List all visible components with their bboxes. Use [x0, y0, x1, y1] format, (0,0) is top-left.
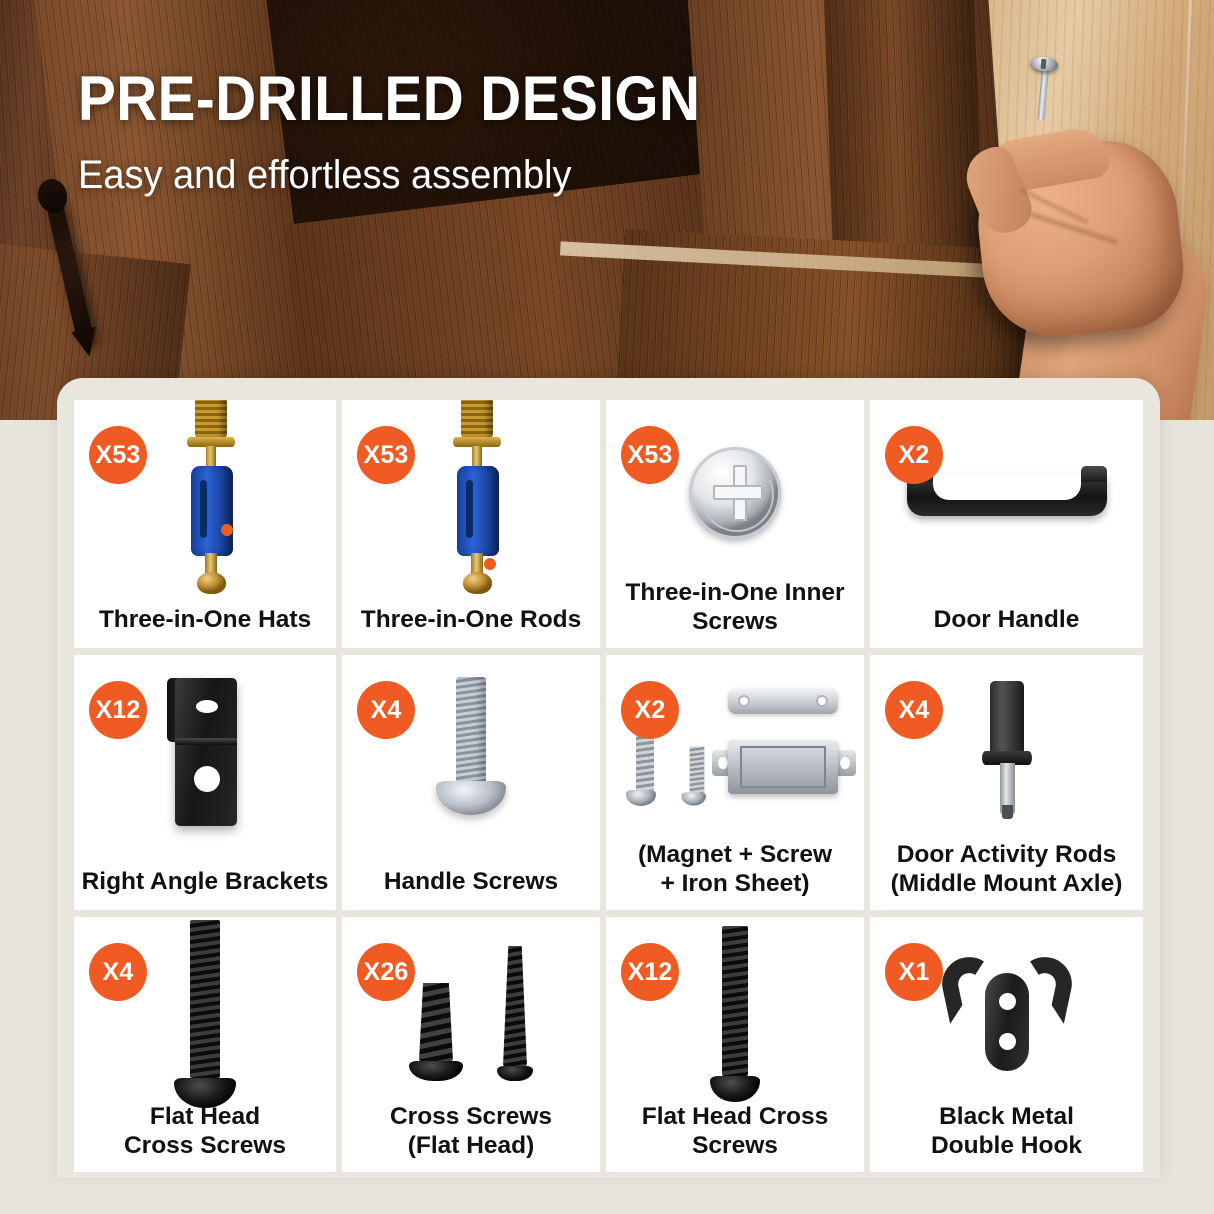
part-cell-right-angle-brackets[interactable]: X12 Right Angle Brackets	[74, 655, 336, 910]
quantity-badge: X2	[885, 426, 943, 484]
part-cell-cross-screws-flat-head[interactable]: X26 Cross Screws (Flat Head)	[342, 917, 600, 1172]
headline-block: PRE-DRILLED DESIGN Easy and effortless a…	[78, 68, 770, 195]
part-label: Three-in-One Inner Screws	[606, 579, 864, 648]
quantity-badge: X2	[621, 681, 679, 739]
parts-list-card: X53 Three-in-One Hats X53	[57, 378, 1160, 1178]
part-cell-door-activity-rods[interactable]: X4 Door Activity Rods (Middle Mount Axle…	[870, 655, 1143, 910]
part-label: Right Angle Brackets	[74, 868, 336, 910]
quantity-badge: X26	[357, 943, 415, 1001]
quantity-badge: X4	[89, 943, 147, 1001]
part-label: Three-in-One Rods	[342, 606, 600, 648]
quantity-badge: X12	[621, 943, 679, 1001]
part-label: Door Handle	[870, 606, 1143, 648]
hand	[950, 86, 1200, 420]
part-cell-door-handle[interactable]: X2 Door Handle	[870, 400, 1143, 648]
part-cell-three-in-one-inner-screws[interactable]: X53 Three-in-One Inner Screws	[606, 400, 864, 648]
quantity-badge: X53	[89, 426, 147, 484]
product-infographic: PRE-DRILLED DESIGN Easy and effortless a…	[0, 0, 1214, 1214]
part-label: Cross Screws (Flat Head)	[342, 1103, 600, 1172]
part-label: Handle Screws	[342, 868, 600, 910]
part-cell-three-in-one-rods[interactable]: X53 Three-in-One Rods	[342, 400, 600, 648]
part-label: (Magnet + Screw + Iron Sheet)	[606, 841, 864, 910]
hero-photo	[0, 0, 1214, 420]
part-cell-handle-screws[interactable]: X4 Handle Screws	[342, 655, 600, 910]
quantity-badge: X4	[885, 681, 943, 739]
part-label: Black Metal Double Hook	[870, 1103, 1143, 1172]
quantity-badge: X12	[89, 681, 147, 739]
quantity-badge: X4	[357, 681, 415, 739]
quantity-badge: X53	[621, 426, 679, 484]
part-cell-flat-head-cross-screws-4[interactable]: X4 Flat Head Cross Screws	[74, 917, 336, 1172]
part-cell-magnet-screw-iron-sheet[interactable]: X2 (Magnet + Screw + Iron Sheet)	[606, 655, 864, 910]
parts-grid: X53 Three-in-One Hats X53	[74, 400, 1143, 1172]
page-title: PRE-DRILLED DESIGN	[78, 68, 700, 131]
part-label: Three-in-One Hats	[74, 606, 336, 648]
page-subtitle: Easy and effortless assembly	[78, 155, 735, 195]
part-cell-black-metal-double-hook[interactable]: X1 Black Metal Double Hook	[870, 917, 1143, 1172]
part-label: Flat Head Cross Screws	[606, 1103, 864, 1172]
part-label: Flat Head Cross Screws	[74, 1103, 336, 1172]
quantity-badge: X53	[357, 426, 415, 484]
part-cell-three-in-one-hats[interactable]: X53 Three-in-One Hats	[74, 400, 336, 648]
quantity-badge: X1	[885, 943, 943, 1001]
part-label: Door Activity Rods (Middle Mount Axle)	[870, 841, 1143, 910]
part-cell-flat-head-cross-screws-12[interactable]: X12 Flat Head Cross Screws	[606, 917, 864, 1172]
